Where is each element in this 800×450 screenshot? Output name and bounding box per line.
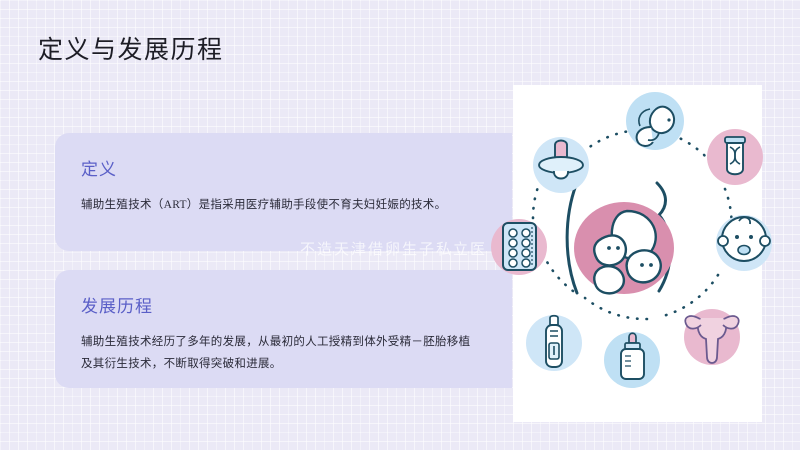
reproductive-cycle-illustration: [487, 85, 787, 422]
page-title: 定义与发展历程: [38, 30, 224, 66]
dna-test-tube-icon: [707, 129, 763, 185]
history-card-heading: 发展历程: [81, 292, 482, 317]
baby-face-icon: [716, 215, 772, 271]
definition-card: 定义 辅助生殖技术（ART）是指采用医疗辅助手段使不育夫妇妊娠的技术。: [55, 133, 512, 251]
pacifier-icon: [533, 137, 589, 193]
uterus-icon: [684, 309, 740, 365]
history-card: 发展历程 辅助生殖技术经历了多年的发展，从最初的人工授精到体外受精－胚胎移植及其…: [55, 270, 512, 388]
baby-bottle-icon: [604, 332, 660, 388]
definition-card-heading: 定义: [81, 155, 482, 180]
history-card-body: 辅助生殖技术经历了多年的发展，从最初的人工授精到体外受精－胚胎移植及其衍生技术，…: [81, 331, 482, 376]
fetus-icon: [626, 92, 684, 150]
pregnancy-test-icon: [526, 315, 582, 371]
pill-blister-icon: [491, 219, 547, 275]
definition-card-body: 辅助生殖技术（ART）是指采用医疗辅助手段使不育夫妇妊娠的技术。: [81, 194, 482, 216]
